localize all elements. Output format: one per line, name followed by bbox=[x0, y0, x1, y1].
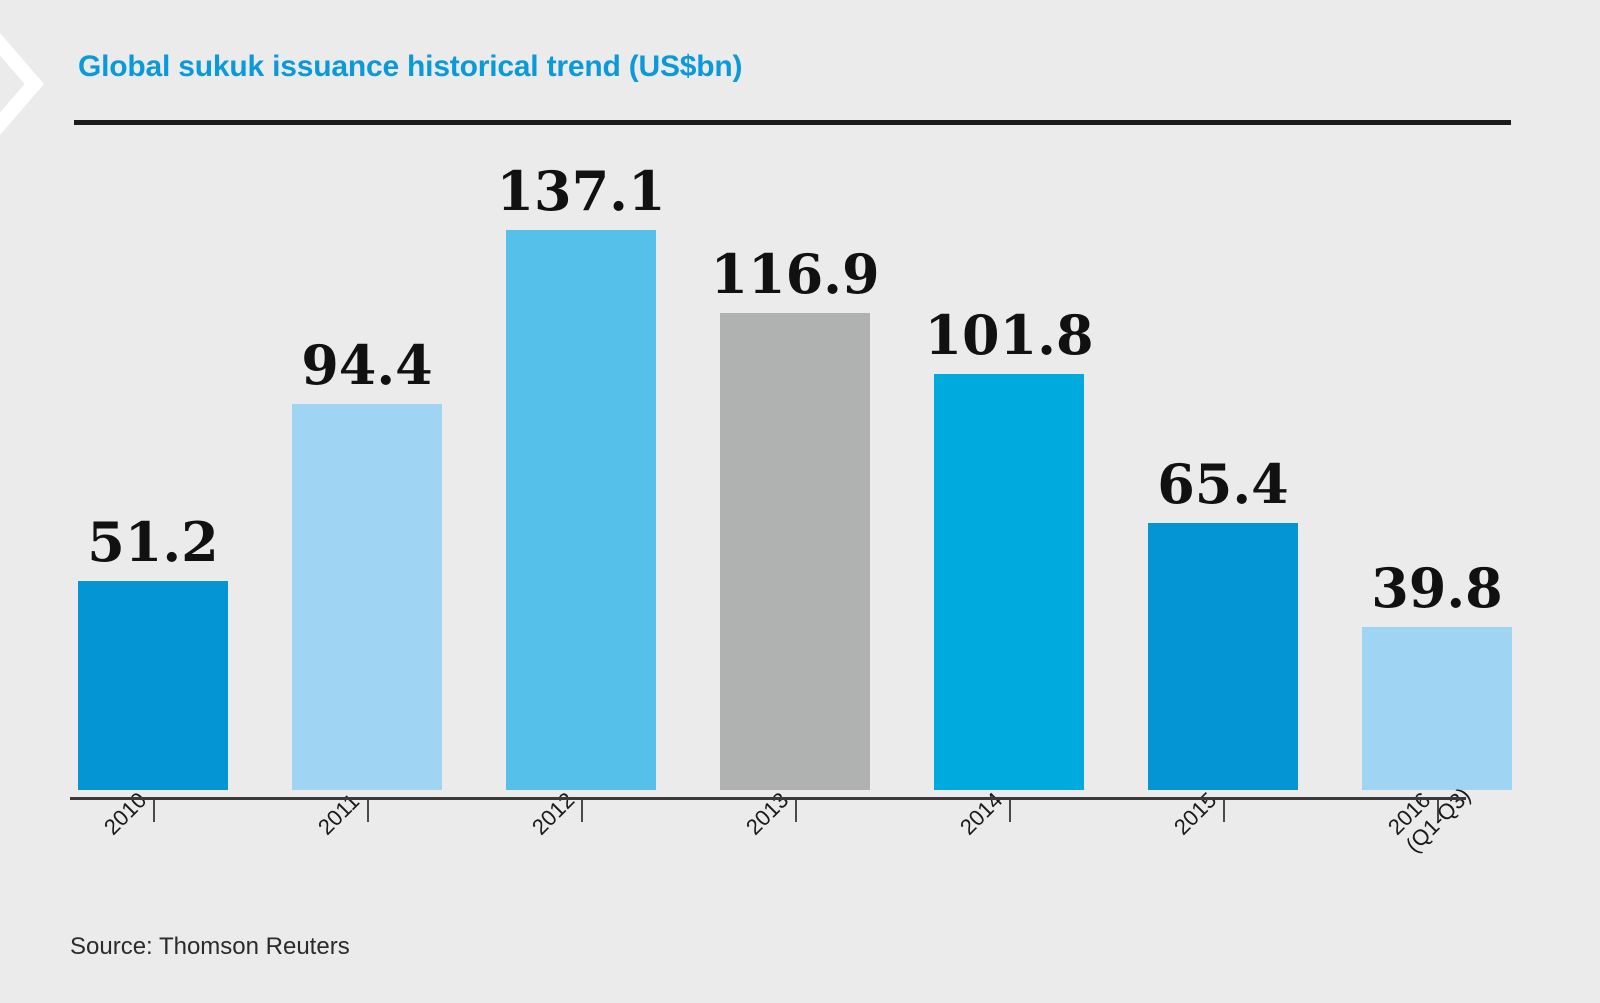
x-axis-tick-label: 2015 bbox=[1169, 787, 1222, 840]
bar-value-label: 39.8 bbox=[1371, 561, 1503, 615]
bar-value-label: 65.4 bbox=[1157, 457, 1289, 511]
x-axis-tick-label: 2010 bbox=[99, 787, 152, 840]
bar-rect[interactable] bbox=[506, 230, 656, 790]
x-axis-tick bbox=[795, 800, 797, 822]
tick-label-line1: 2013 bbox=[741, 787, 793, 839]
x-axis-tick-label: 2012 bbox=[527, 787, 580, 840]
source-note: Source: Thomson Reuters bbox=[70, 933, 350, 961]
x-axis-line bbox=[70, 797, 1466, 800]
tick-label-line1: 2014 bbox=[955, 787, 1007, 839]
bar-rect[interactable] bbox=[1362, 627, 1512, 790]
bar-2012[interactable] bbox=[506, 230, 656, 790]
x-axis-tick bbox=[581, 800, 583, 822]
chart-page: Global sukuk issuance historical trend (… bbox=[0, 0, 1600, 1003]
x-axis-tick bbox=[1223, 800, 1225, 822]
bar-rect[interactable] bbox=[78, 581, 228, 790]
bar-value-label: 101.8 bbox=[924, 308, 1093, 362]
bar-value-label: 51.2 bbox=[87, 515, 219, 569]
x-axis-tick bbox=[367, 800, 369, 822]
x-axis-tick bbox=[153, 800, 155, 822]
bar-2010[interactable] bbox=[78, 581, 228, 790]
bar-rect[interactable] bbox=[1148, 523, 1298, 790]
x-axis-tick-label: 2014 bbox=[955, 787, 1008, 840]
x-axis-tick-label: 2013 bbox=[741, 787, 794, 840]
tick-label-line1: 2012 bbox=[527, 787, 579, 839]
x-axis-tick bbox=[1009, 800, 1011, 822]
bar-value-label: 116.9 bbox=[710, 247, 879, 301]
bar-2016-q1-q3-[interactable] bbox=[1362, 627, 1512, 790]
bar-rect[interactable] bbox=[292, 404, 442, 790]
tick-label-line1: 2010 bbox=[99, 787, 151, 839]
bar-2011[interactable] bbox=[292, 404, 442, 790]
bar-rect[interactable] bbox=[720, 313, 870, 790]
bar-chart-plot: 51.2201094.42011137.12012116.92013101.82… bbox=[0, 0, 1600, 1003]
bar-value-label: 137.1 bbox=[496, 164, 665, 218]
bar-rect[interactable] bbox=[934, 374, 1084, 790]
bar-value-label: 94.4 bbox=[301, 338, 433, 392]
bar-2015[interactable] bbox=[1148, 523, 1298, 790]
tick-label-line1: 2015 bbox=[1169, 787, 1221, 839]
bar-2013[interactable] bbox=[720, 313, 870, 790]
bar-2014[interactable] bbox=[934, 374, 1084, 790]
